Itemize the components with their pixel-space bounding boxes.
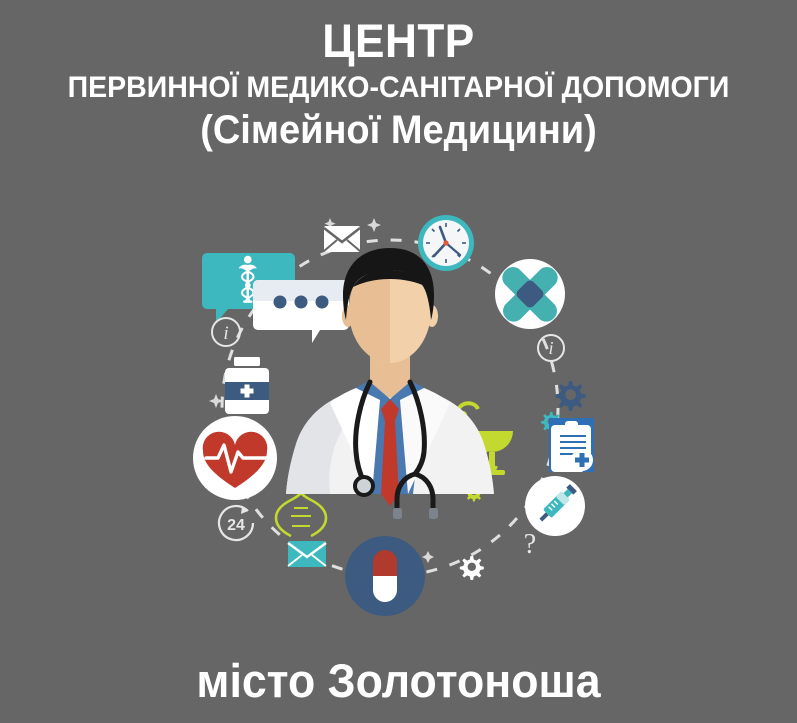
heading-block: ЦЕНТР ПЕРВИННОЇ МЕДИКО-САНІТАРНОЇ ДОПОМО… — [0, 0, 797, 152]
envelope-icon — [324, 226, 360, 252]
chat-dots — [274, 296, 329, 309]
medicine-bottle-icon — [225, 357, 269, 414]
chat-bubble-dots-icon — [253, 280, 349, 343]
clipboard-cross — [571, 449, 593, 471]
info-left-label: i — [223, 323, 228, 344]
doctor-illustration: i — [178, 196, 603, 621]
badge-24-icon: 24 — [219, 506, 253, 540]
info-right-label: i — [548, 338, 553, 358]
clipboard-medical-icon — [549, 418, 594, 472]
page-title: ЦЕНТР — [24, 16, 773, 65]
badge-24-label: 24 — [227, 517, 245, 534]
pill-capsule-icon — [345, 536, 425, 616]
stethoscope-earpiece-right — [429, 508, 438, 519]
footer-block: місто Золотоноша — [0, 656, 797, 705]
question-mark-icon: ? — [524, 529, 536, 560]
gear-white-icon — [460, 556, 484, 580]
syringe-icon — [525, 476, 585, 536]
heartbeat-icon — [193, 416, 277, 500]
bandage-cross-icon — [495, 259, 565, 329]
info-circle-icon-left: i — [212, 318, 240, 346]
gear-large-icon — [556, 381, 586, 411]
clock-icon — [418, 215, 474, 271]
stethoscope-chestpiece — [355, 477, 373, 495]
info-circle-icon-right: i — [538, 335, 564, 361]
city-label: місто Золотоноша — [20, 656, 777, 705]
poster-canvas: ЦЕНТР ПЕРВИННОЇ МЕДИКО-САНІТАРНОЇ ДОПОМО… — [0, 0, 797, 723]
envelope-teal-icon — [288, 541, 326, 567]
stethoscope-earpiece-left — [393, 508, 402, 519]
page-subtitle-1: ПЕРВИННОЇ МЕДИКО-САНІТАРНОЇ ДОПОМОГИ — [20, 71, 777, 104]
page-subtitle-2: (Сімейної Медицини) — [20, 108, 777, 152]
